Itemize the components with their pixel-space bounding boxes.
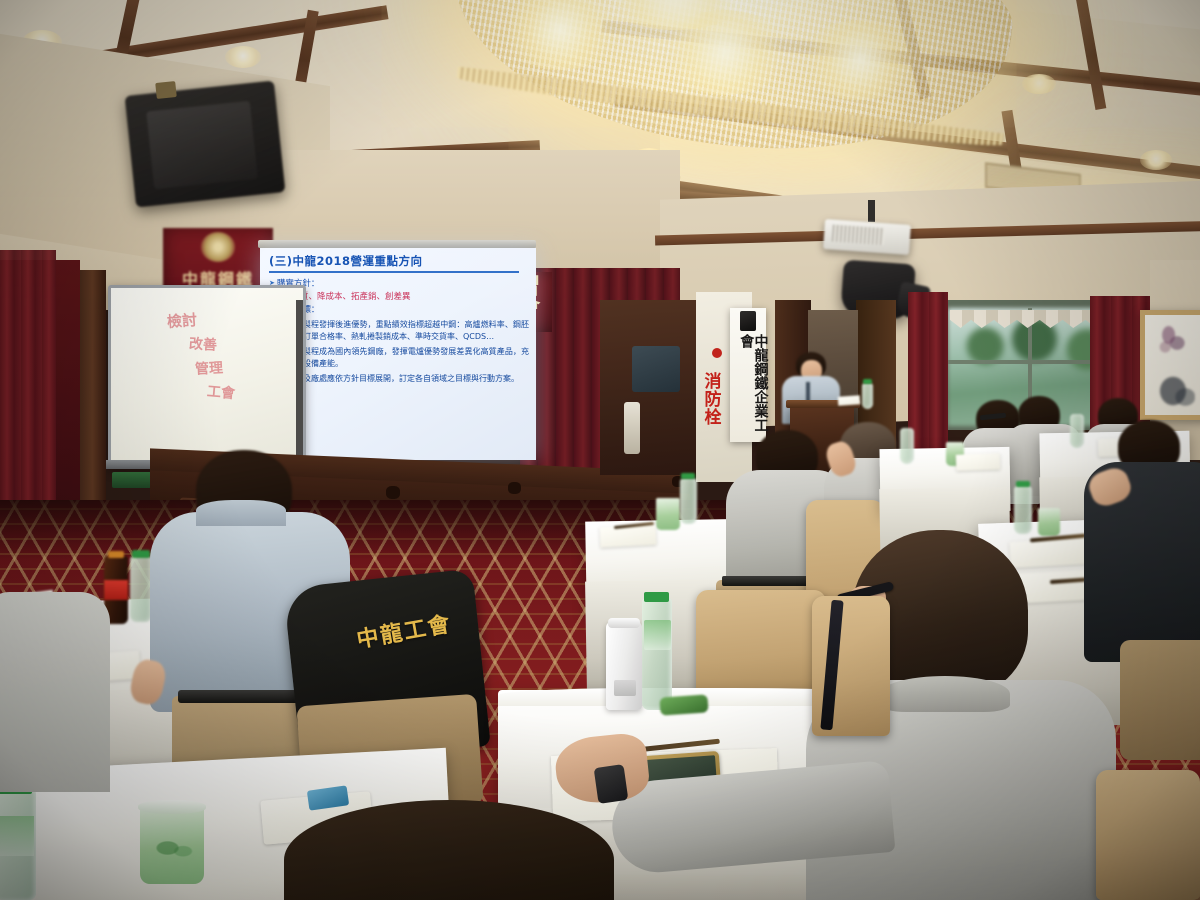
ceiling-projector: [823, 219, 911, 255]
stage-knob: [508, 482, 521, 494]
water-bottle: [1014, 486, 1032, 534]
speaker-cone: [146, 101, 258, 189]
thermos-lid: [608, 618, 640, 628]
bottle-label: [0, 816, 34, 856]
slide-bullet1-text: 精品質、降成本、拓產銷、創差異: [283, 291, 529, 303]
whiteboard-stand-leg: [296, 300, 303, 480]
thermos-label: [614, 680, 636, 696]
bottle-label: [644, 620, 671, 650]
document: [1009, 538, 1088, 568]
cup-graphic: [150, 832, 194, 864]
union-logo-icon: [201, 232, 235, 262]
vertical-banner-text: 中龍鋼鐵企業工會: [739, 334, 768, 442]
podium-papers: [838, 395, 861, 406]
screen-casing: [258, 240, 536, 248]
alarm-light-icon: [712, 348, 722, 358]
whiteboard-ink-4: 工會: [206, 381, 236, 403]
attendee-foreground-left-shoulder: [0, 592, 110, 792]
green-cup: [1038, 508, 1060, 536]
bottle-cap: [1016, 481, 1030, 487]
fire-hydrant-sign: 消防栓: [700, 372, 734, 444]
wall-object: [624, 402, 640, 454]
chair-center-front: [696, 590, 826, 700]
bottle-cap: [681, 473, 695, 479]
green-cup: [656, 498, 680, 530]
whiteboard: 檢討 改善 管理 工會: [108, 285, 306, 469]
downlight: [1022, 74, 1056, 94]
bottle-cap: [863, 379, 872, 384]
cola-cap: [108, 551, 124, 558]
whiteboard-ink-2: 改善: [188, 333, 217, 354]
chair-right: [1120, 640, 1200, 760]
attendee-collar: [196, 500, 286, 526]
water-bottle: [130, 556, 152, 622]
slide-item-3: 各部門及廠處應依方針目標展開，訂定各自領域之目標與行動方案。: [279, 373, 529, 385]
chinese-ink-painting: [1140, 310, 1200, 420]
water-bottle: [642, 598, 672, 710]
downlight: [225, 46, 261, 68]
wall-pillar: [76, 270, 106, 500]
union-emblem-icon: [740, 311, 756, 331]
conference-room-photo: 中龍鋼鐵 企業工會 習會 (三)中龍2018營運重點方向 ➤ 購實方針： 精品質…: [0, 0, 1200, 900]
chair-foreground-right: [1096, 770, 1200, 900]
downlight: [1140, 150, 1172, 170]
speaker-bracket: [155, 81, 177, 99]
document: [956, 453, 1001, 471]
bottle-cap: [132, 550, 150, 558]
foreground-man-collar: [880, 676, 1010, 712]
water-bottle: [680, 478, 697, 524]
green-snack-pack: [659, 694, 708, 715]
fire-hydrant-sign-text: 消防栓: [700, 372, 720, 426]
vertical-banner-union: 中龍鋼鐵企業工會: [730, 308, 766, 442]
white-thermos: [606, 622, 642, 710]
bottle-cap: [644, 592, 669, 602]
cup-rim: [138, 800, 206, 814]
slide-title: (三)中龍2018營運重點方向: [269, 254, 529, 268]
water-bottle: [1070, 414, 1084, 448]
projector-mount: [868, 200, 875, 222]
water-bottle: [900, 428, 914, 464]
stage-knob: [386, 486, 400, 499]
cola-label: [104, 580, 128, 600]
chandelier-bulb-glow: [800, 20, 920, 100]
slide-item-2: 2.電爐製程成為國內領先鋼廠，發揮電爐優勢發展差異化高質產品，充份運用設備產能。: [279, 346, 529, 370]
wristwatch: [594, 764, 629, 804]
document: [600, 525, 657, 548]
whiteboard-ink-1: 檢討: [166, 309, 197, 332]
wall-monitor: [632, 346, 680, 392]
whiteboard-ink-3: 管理: [194, 357, 223, 378]
slide-item-1: 1.高爐製程發揮後進優勢，重點績效指標超越中鋼：高爐燃料率、鋼胚及熱軋訂單合格率…: [279, 319, 529, 343]
water-bottle: [862, 383, 873, 409]
